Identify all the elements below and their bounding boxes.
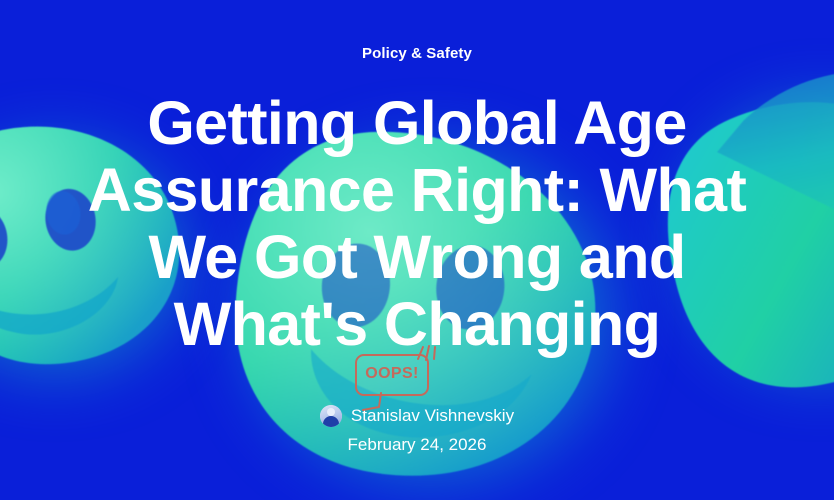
title-line: Getting Global Age xyxy=(4,90,830,157)
oops-annotation-bubble: OOPS! xyxy=(355,354,429,396)
page-title: Getting Global Age Assurance Right: What… xyxy=(0,90,834,358)
avatar-head xyxy=(327,408,335,416)
blog-hero-banner: Policy & Safety Getting Global Age Assur… xyxy=(0,0,834,500)
byline: Stanislav Vishnevskiy February 24, 2026 xyxy=(0,404,834,456)
title-line: Assurance Right: What xyxy=(4,157,830,224)
title-line: We Got Wrong and xyxy=(4,224,830,291)
hero-content: Policy & Safety Getting Global Age Assur… xyxy=(0,0,834,500)
avatar[interactable] xyxy=(320,405,342,427)
oops-label: OOPS! xyxy=(365,366,419,382)
category-eyebrow[interactable]: Policy & Safety xyxy=(0,44,834,64)
oops-motion-lines-icon xyxy=(414,343,440,365)
avatar-body xyxy=(323,416,339,427)
publish-date: February 24, 2026 xyxy=(0,434,834,456)
oops-bubble-tail-icon xyxy=(361,393,383,411)
author-row: Stanislav Vishnevskiy xyxy=(0,404,834,428)
